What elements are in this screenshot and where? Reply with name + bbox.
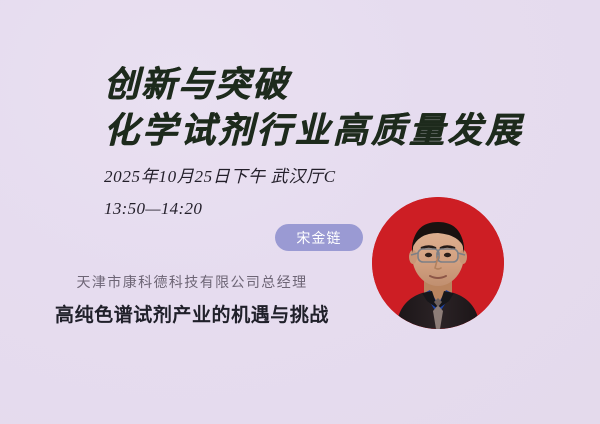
headline-line-2: 化学试剂行业高质量发展 [104, 112, 524, 150]
speaker-portrait [372, 197, 504, 329]
presentation-slide: 创新与突破 化学试剂行业高质量发展 2025年10月25日下午 武汉厅C 13:… [0, 0, 600, 424]
speaker-name-badge: 宋金链 [275, 224, 363, 251]
talk-title: 高纯色谱试剂产业的机遇与挑战 [0, 300, 384, 327]
speaker-name-label: 宋金链 [296, 231, 341, 245]
portrait-illustration [372, 197, 504, 329]
speaker-affiliation: 天津市康科德科技有限公司总经理 [0, 272, 384, 292]
session-date: 2025年10月25日下午 武汉厅C [104, 162, 336, 187]
session-time: 13:50—14:20 [104, 199, 202, 219]
headline-line-1: 创新与突破 [104, 66, 290, 104]
